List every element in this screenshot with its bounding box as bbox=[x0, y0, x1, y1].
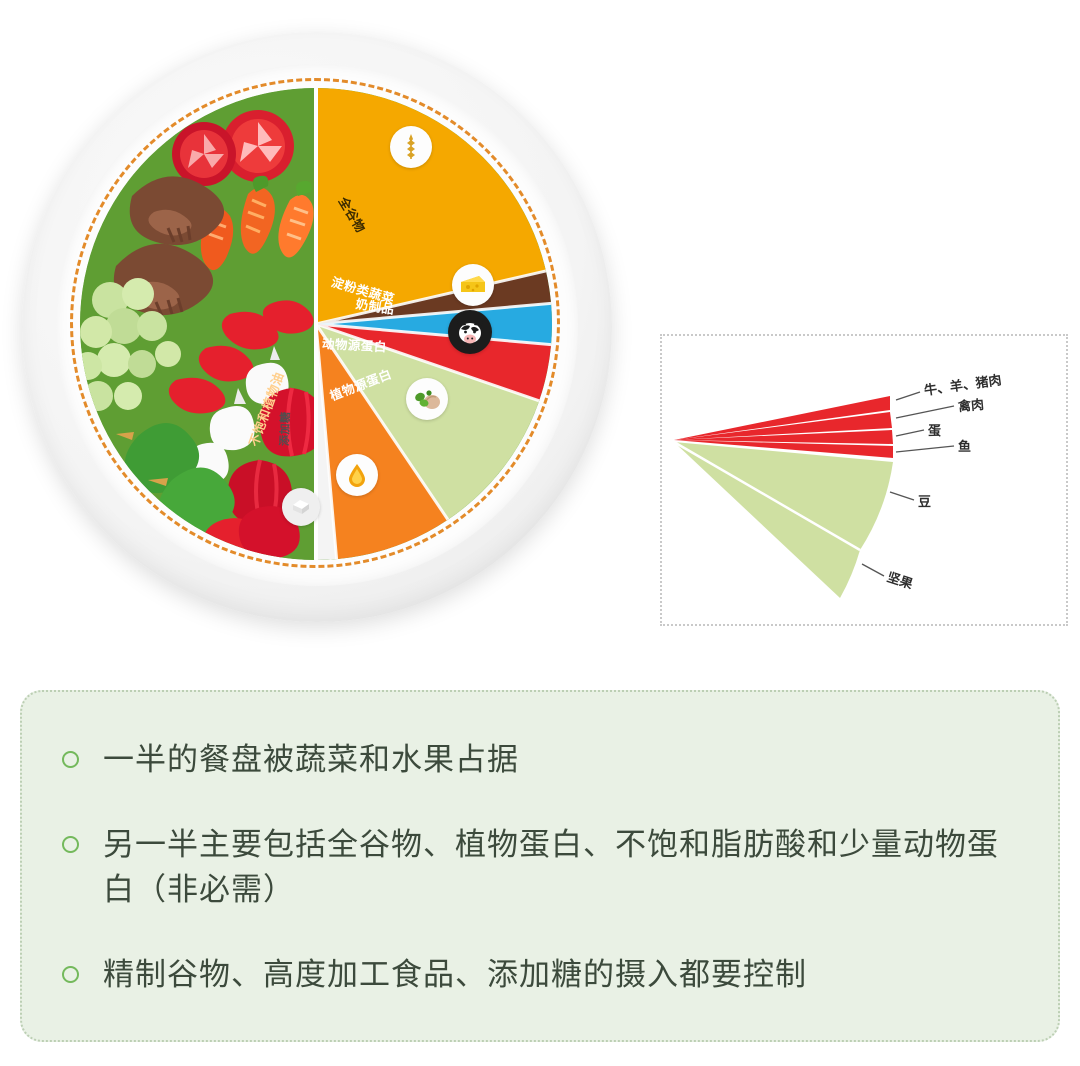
plate-food-area: 全谷物 淀粉类蔬菜 奶制品 动物源蛋白 植物源蛋白 不饱和植物油 添加糖 bbox=[80, 88, 552, 560]
segment-label-added-sugar: 添加糖 bbox=[276, 411, 293, 446]
beans-nuts-icon bbox=[406, 378, 448, 420]
cheese-icon bbox=[452, 264, 494, 306]
list-item: 精制谷物、高度加工食品、添加糖的摄入都要控制 bbox=[62, 953, 1018, 998]
bullet-circle-icon bbox=[62, 751, 79, 768]
wheat-icon bbox=[390, 126, 432, 168]
list-item: 一半的餐盘被蔬菜和水果占据 bbox=[62, 738, 1018, 783]
notes-panel: 一半的餐盘被蔬菜和水果占据 另一半主要包括全谷物、植物蛋白、不饱和脂肪酸和少量动… bbox=[20, 690, 1060, 1042]
detail-label-fish: 鱼 bbox=[958, 436, 971, 455]
note-text: 一半的餐盘被蔬菜和水果占据 bbox=[103, 738, 519, 783]
sugar-cube-icon bbox=[282, 488, 320, 526]
bullet-circle-icon bbox=[62, 836, 79, 853]
bullet-circle-icon bbox=[62, 966, 79, 983]
detail-label-beans: 豆 bbox=[918, 491, 931, 510]
detail-label-egg: 蛋 bbox=[928, 420, 941, 439]
leaf-icon bbox=[168, 536, 204, 555]
list-item: 另一半主要包括全谷物、植物蛋白、不饱和脂肪酸和少量动物蛋白（非必需） bbox=[62, 823, 1018, 913]
oil-drop-icon bbox=[336, 454, 378, 496]
plant-protein-wedges bbox=[674, 442, 893, 598]
detail-label-poultry: 禽肉 bbox=[957, 394, 985, 415]
segment-label-animal-protein: 动物源蛋白 bbox=[322, 333, 388, 355]
cow-icon bbox=[448, 310, 492, 354]
protein-detail-svg bbox=[662, 336, 1070, 628]
protein-breakdown-detail: 牛、羊、猪肉 禽肉 蛋 鱼 豆 坚果 bbox=[660, 334, 1068, 626]
note-text: 精制谷物、高度加工食品、添加糖的摄入都要控制 bbox=[103, 953, 807, 998]
note-text: 另一半主要包括全谷物、植物蛋白、不饱和脂肪酸和少量动物蛋白（非必需） bbox=[103, 823, 1018, 913]
healthy-eating-plate: 全谷物 淀粉类蔬菜 奶制品 动物源蛋白 植物源蛋白 不饱和植物油 添加糖 bbox=[14, 22, 624, 632]
